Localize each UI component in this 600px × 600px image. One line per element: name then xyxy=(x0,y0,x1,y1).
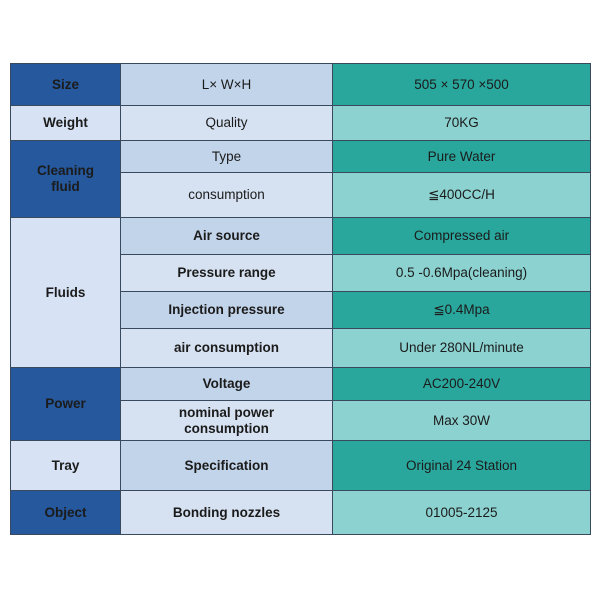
table-row: TraySpecificationOriginal 24 Station xyxy=(11,441,591,491)
value-cell-specification: Original 24 Station xyxy=(333,441,591,491)
value-cell-air-consumption: Under 280NL/minute xyxy=(333,329,591,368)
value-cell-quality: 70KG xyxy=(333,106,591,141)
value-cell-nominal-power-consumption: Max 30W xyxy=(333,401,591,441)
category-cell-cleaning-fluid: Cleaningfluid xyxy=(11,141,121,218)
category-cell-object: Object xyxy=(11,491,121,535)
category-label-line1: Cleaning xyxy=(37,163,94,178)
specification-table: SizeL× W×H505 × 570 ×500WeightQuality70K… xyxy=(10,63,591,535)
parameter-cell-pressure-range: Pressure range xyxy=(121,255,333,292)
parameter-cell-air-source: Air source xyxy=(121,218,333,255)
parameter-cell-injection-pressure: Injection pressure xyxy=(121,292,333,329)
value-cell-voltage: AC200-240V xyxy=(333,368,591,401)
parameter-cell-type: Type xyxy=(121,141,333,173)
specification-table-container: SizeL× W×H505 × 570 ×500WeightQuality70K… xyxy=(10,63,590,534)
category-label-line2: fluid xyxy=(51,179,80,194)
value-cell-consumption: ≦400CC/H xyxy=(333,173,591,218)
category-cell-weight: Weight xyxy=(11,106,121,141)
category-cell-tray: Tray xyxy=(11,441,121,491)
value-cell-pressure-range: 0.5 -0.6Mpa(cleaning) xyxy=(333,255,591,292)
value-cell-injection-pressure: ≦0.4Mpa xyxy=(333,292,591,329)
parameter-label-line1: nominal power xyxy=(179,405,274,420)
parameter-cell-specification: Specification xyxy=(121,441,333,491)
parameter-cell-l-w-h: L× W×H xyxy=(121,64,333,106)
category-cell-fluids: Fluids xyxy=(11,218,121,368)
parameter-label-line2: consumption xyxy=(184,421,269,436)
value-cell-type: Pure Water xyxy=(333,141,591,173)
parameter-cell-consumption: consumption xyxy=(121,173,333,218)
value-cell-air-source: Compressed air xyxy=(333,218,591,255)
category-cell-power: Power xyxy=(11,368,121,441)
table-row: FluidsAir sourceCompressed air xyxy=(11,218,591,255)
table-row: WeightQuality70KG xyxy=(11,106,591,141)
parameter-cell-voltage: Voltage xyxy=(121,368,333,401)
parameter-cell-nominal-power-consumption: nominal powerconsumption xyxy=(121,401,333,441)
table-row: SizeL× W×H505 × 570 ×500 xyxy=(11,64,591,106)
table-row: CleaningfluidTypePure Water xyxy=(11,141,591,173)
table-row: ObjectBonding nozzles01005-2125 xyxy=(11,491,591,535)
category-cell-size: Size xyxy=(11,64,121,106)
parameter-cell-air-consumption: air consumption xyxy=(121,329,333,368)
parameter-cell-bonding-nozzles: Bonding nozzles xyxy=(121,491,333,535)
specification-table-body: SizeL× W×H505 × 570 ×500WeightQuality70K… xyxy=(11,64,591,535)
value-cell-l-w-h: 505 × 570 ×500 xyxy=(333,64,591,106)
value-cell-bonding-nozzles: 01005-2125 xyxy=(333,491,591,535)
parameter-cell-quality: Quality xyxy=(121,106,333,141)
table-row: PowerVoltageAC200-240V xyxy=(11,368,591,401)
